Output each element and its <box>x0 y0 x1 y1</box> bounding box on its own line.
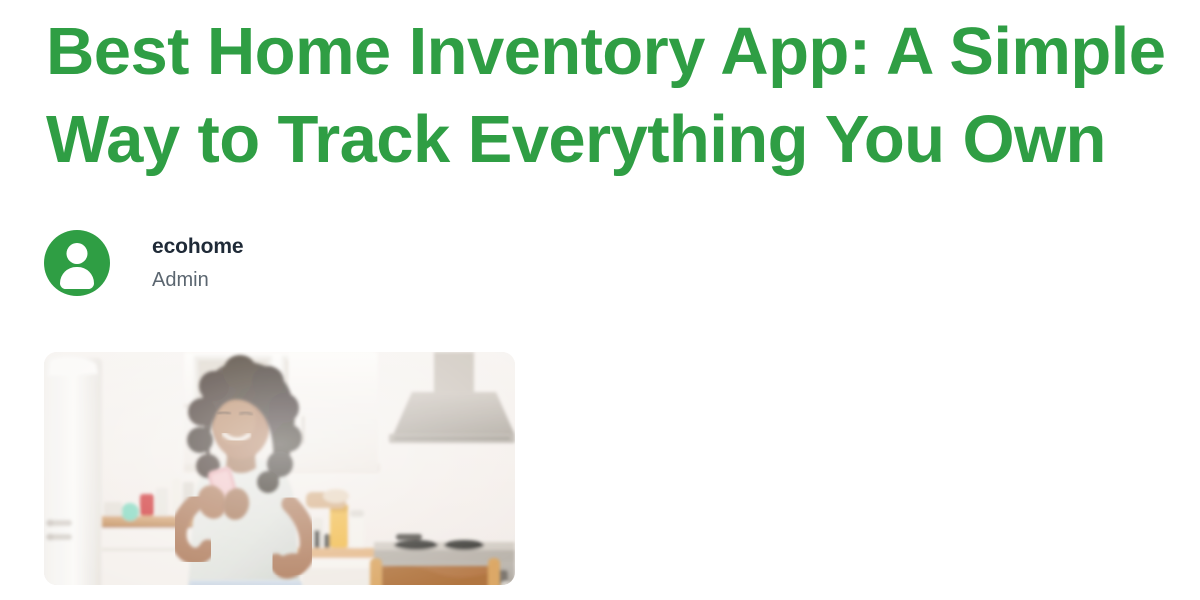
kitchen-photo-illustration <box>44 352 515 585</box>
author-name[interactable]: ecohome <box>152 234 244 260</box>
author-role: Admin <box>152 268 244 292</box>
avatar-head-shape <box>67 243 88 264</box>
author-meta: ecohome Admin <box>152 234 244 292</box>
article-page: Best Home Inventory App: A Simple Way to… <box>0 0 1200 600</box>
page-title: Best Home Inventory App: A Simple Way to… <box>46 8 1200 184</box>
user-avatar-icon <box>44 230 110 296</box>
avatar-body-shape <box>60 267 94 289</box>
hero-image <box>44 352 515 585</box>
author-byline: ecohome Admin <box>44 230 244 296</box>
